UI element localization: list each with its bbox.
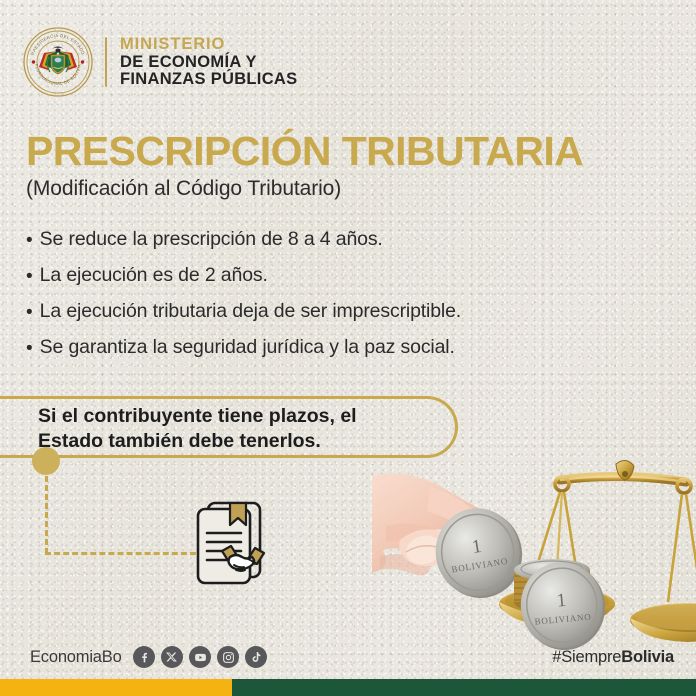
bolivia-state-seal-icon: PRESIDENCIA DEL ESTADO PLURINACIONAL DE … <box>22 26 94 98</box>
gold-dot-accent <box>32 447 60 475</box>
balance-scales: 1 BOLIVIANO <box>499 460 696 653</box>
document-handshake-icon <box>186 495 282 591</box>
list-item: • Se garantiza la seguridad jurídica y l… <box>26 336 626 359</box>
list-item: • La ejecución es de 2 años. <box>26 264 626 287</box>
bullet-marker: • <box>26 267 33 286</box>
bar-segment-yellow <box>0 679 232 696</box>
bullet-text: Se reduce la prescripción de 8 a 4 años. <box>40 228 383 251</box>
list-item: • Se reduce la prescripción de 8 a 4 año… <box>26 228 626 251</box>
bullet-text: Se garantiza la seguridad jurídica y la … <box>40 336 455 359</box>
bottom-color-bar <box>0 679 696 696</box>
bullet-text: La ejecución es de 2 años. <box>40 264 268 287</box>
instagram-icon[interactable] <box>217 646 239 668</box>
brand-handle: EconomiaBo <box>30 648 122 667</box>
infographic-card: PRESIDENCIA DEL ESTADO PLURINACIONAL DE … <box>0 0 696 696</box>
quote-text: Si el contribuyente tiene plazos, el Est… <box>38 404 428 454</box>
page-title: PRESCRIPCIÓN TRIBUTARIA <box>26 128 583 175</box>
hashtag-bold: Bolivia <box>621 648 674 666</box>
quote-line-2: Estado también debe tenerlos. <box>38 429 428 454</box>
hand-coin-scales-image: 1 BOLIVIANO <box>372 452 696 660</box>
dashed-line-vertical <box>45 476 48 554</box>
hashtag-light: #Siempre <box>552 648 621 666</box>
ministry-name: MINISTERIO DE ECONOMÍA Y FINANZAS PÚBLIC… <box>120 36 297 88</box>
ministry-line-3: FINANZAS PÚBLICAS <box>120 71 297 88</box>
header-divider <box>105 37 107 87</box>
x-twitter-icon[interactable] <box>161 646 183 668</box>
list-item: • La ejecución tributaria deja de ser im… <box>26 300 626 323</box>
bullet-marker: • <box>26 339 33 358</box>
bullet-marker: • <box>26 303 33 322</box>
page-subtitle: (Modificación al Código Tributario) <box>26 177 341 201</box>
header: PRESIDENCIA DEL ESTADO PLURINACIONAL DE … <box>22 26 297 98</box>
bar-segment-green <box>232 679 696 696</box>
hashtag: #SiempreBolivia <box>552 648 674 667</box>
ministry-line-2: DE ECONOMÍA Y <box>120 54 297 71</box>
bullet-marker: • <box>26 231 33 250</box>
svg-text:1: 1 <box>556 590 567 612</box>
dashed-line-horizontal <box>45 552 205 555</box>
footer: EconomiaBo <box>0 638 696 678</box>
youtube-icon[interactable] <box>189 646 211 668</box>
tiktok-icon[interactable] <box>245 646 267 668</box>
ministry-line-1: MINISTERIO <box>120 36 297 53</box>
bullet-text: La ejecución tributaria deja de ser impr… <box>40 300 461 323</box>
bullet-list: • Se reduce la prescripción de 8 a 4 año… <box>26 228 626 372</box>
quote-line-1: Si el contribuyente tiene plazos, el <box>38 404 428 429</box>
social-links <box>133 646 267 668</box>
facebook-icon[interactable] <box>133 646 155 668</box>
